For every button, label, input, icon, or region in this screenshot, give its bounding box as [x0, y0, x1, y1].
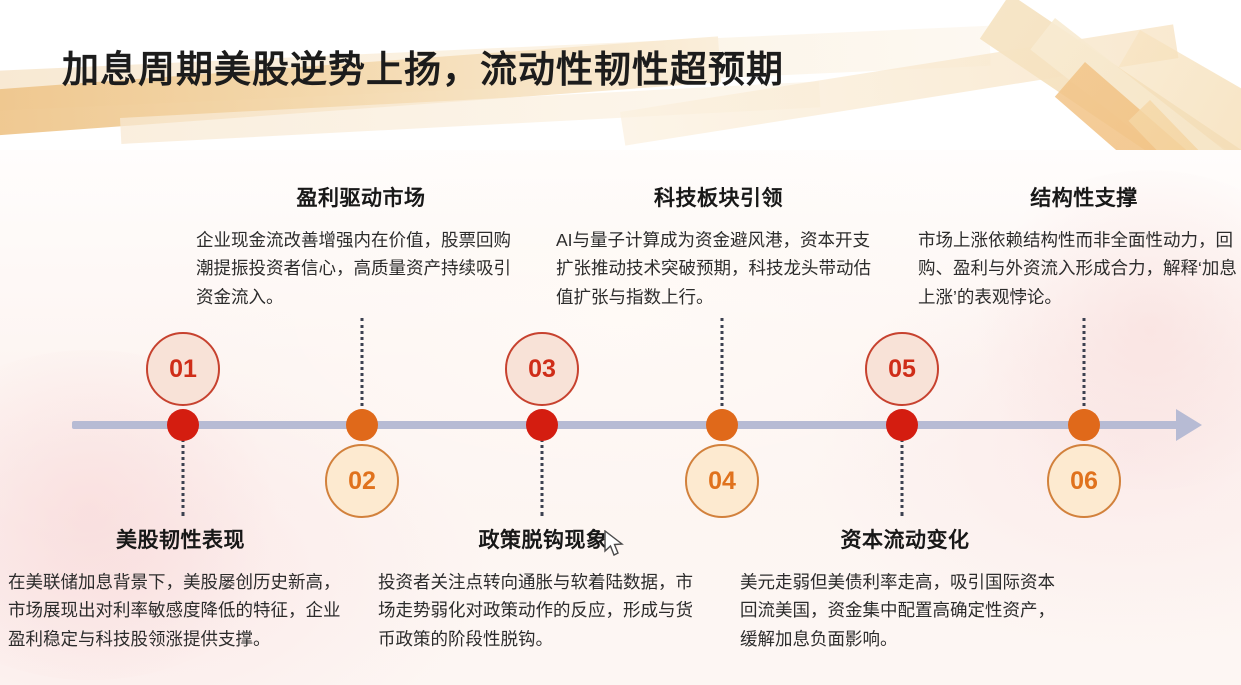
timeline-dot-03[interactable] — [526, 409, 558, 441]
block-desc-06: 市场上涨依赖结构性而非全面性动力，回购、盈利与外资流入形成合力，解释‘加息上涨’… — [918, 226, 1241, 311]
timeline-bubble-02[interactable]: 02 — [325, 444, 399, 518]
timeline-number-02: 02 — [348, 467, 376, 496]
timeline-number-05: 05 — [888, 355, 916, 384]
block-desc-04: AI与量子计算成为资金避风港，资本开支扩张推动技术突破预期，科技龙头带动估值扩张… — [556, 226, 881, 311]
slide-canvas: 加息周期美股逆势上扬，流动性韧性超预期 01 美股韧性表现 在美联储加息背景下，… — [0, 0, 1241, 685]
timeline-dot-06[interactable] — [1068, 409, 1100, 441]
timeline-bubble-06[interactable]: 06 — [1047, 444, 1121, 518]
timeline-dot-01[interactable] — [167, 409, 199, 441]
timeline-number-01: 01 — [169, 355, 197, 384]
block-02: 盈利驱动市场 企业现金流改善增强内在价值，股票回购潮提振投资者信心，高质量资产持… — [196, 182, 526, 311]
block-04: 科技板块引领 AI与量子计算成为资金避风港，资本开支扩张推动技术突破预期，科技龙… — [556, 182, 881, 311]
block-heading-03: 政策脱钩现象 — [378, 524, 708, 554]
block-03: 政策脱钩现象 投资者关注点转向通胀与软着陆数据，市场走势弱化对政策动作的反应，形… — [378, 524, 708, 653]
timeline-dot-05[interactable] — [886, 409, 918, 441]
leader-line-05 — [901, 438, 904, 516]
block-heading-04: 科技板块引领 — [556, 182, 881, 212]
timeline-bubble-01[interactable]: 01 — [146, 332, 220, 406]
block-heading-06: 结构性支撑 — [918, 182, 1241, 212]
block-desc-02: 企业现金流改善增强内在价值，股票回购潮提振投资者信心，高质量资产持续吸引资金流入… — [196, 226, 526, 311]
block-06: 结构性支撑 市场上涨依赖结构性而非全面性动力，回购、盈利与外资流入形成合力，解释… — [918, 182, 1241, 311]
timeline-axis — [72, 421, 1182, 429]
block-05: 资本流动变化 美元走弱但美债利率走高，吸引国际资本回流美国，资金集中配置高确定性… — [740, 524, 1070, 653]
block-heading-01: 美股韧性表现 — [8, 524, 353, 554]
leader-line-04 — [721, 318, 724, 412]
timeline-bubble-04[interactable]: 04 — [685, 444, 759, 518]
leader-line-06 — [1083, 318, 1086, 412]
block-heading-05: 资本流动变化 — [740, 524, 1070, 554]
timeline-dot-04[interactable] — [706, 409, 738, 441]
timeline-bubble-05[interactable]: 05 — [865, 332, 939, 406]
timeline-dot-02[interactable] — [346, 409, 378, 441]
timeline-bubble-03[interactable]: 03 — [505, 332, 579, 406]
page-title: 加息周期美股逆势上扬，流动性韧性超预期 — [62, 39, 784, 93]
leader-line-03 — [541, 438, 544, 516]
timeline-number-03: 03 — [528, 355, 556, 384]
block-desc-05: 美元走弱但美债利率走高，吸引国际资本回流美国，资金集中配置高确定性资产，缓解加息… — [740, 568, 1070, 653]
leader-line-01 — [182, 438, 185, 516]
timeline-arrow-icon — [1176, 409, 1202, 441]
timeline-number-06: 06 — [1070, 467, 1098, 496]
timeline-number-04: 04 — [708, 467, 736, 496]
block-desc-01: 在美联储加息背景下，美股屡创历史新高，市场展现出对利率敏感度降低的特征，企业盈利… — [8, 568, 353, 653]
leader-line-02 — [361, 318, 364, 412]
block-01: 美股韧性表现 在美联储加息背景下，美股屡创历史新高，市场展现出对利率敏感度降低的… — [8, 524, 353, 653]
block-desc-03: 投资者关注点转向通胀与软着陆数据，市场走势弱化对政策动作的反应，形成与货币政策的… — [378, 568, 708, 653]
block-heading-02: 盈利驱动市场 — [196, 182, 526, 212]
